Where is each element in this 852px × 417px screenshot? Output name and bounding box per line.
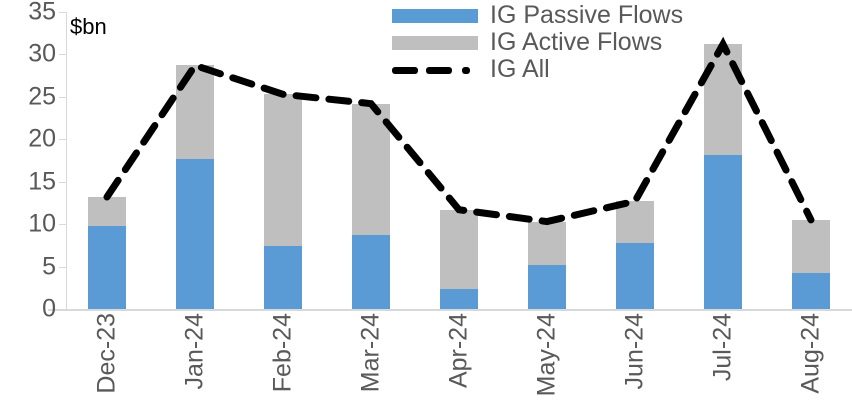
bar-segment-ig-passive-flows[interactable] — [264, 246, 302, 309]
bar-segment-ig-passive-flows[interactable] — [176, 159, 214, 309]
bar-segment-ig-active-flows[interactable] — [440, 210, 478, 289]
legend-item-label: IG Active Flows — [490, 30, 662, 55]
x-axis-tick-label-text: Jul-24 — [711, 313, 736, 381]
legend-dash-segment — [426, 67, 452, 74]
x-axis-labels: Dec-23Jan-24Feb-24Mar-24Apr-24May-24Jun-… — [66, 313, 852, 417]
legend-item-ig-active-flows[interactable]: IG Active Flows — [392, 29, 682, 56]
bar-group[interactable] — [264, 12, 302, 309]
legend-swatch — [392, 9, 478, 23]
x-axis-tick-label-text: Jan-24 — [183, 313, 208, 389]
legend-dash-segment — [462, 67, 470, 74]
x-axis-tick-label-text: Mar-24 — [359, 313, 384, 392]
bar-segment-ig-passive-flows[interactable] — [352, 235, 390, 309]
bar-group[interactable] — [176, 12, 214, 309]
y-axis-tick-mark — [59, 139, 66, 140]
legend-item-label: IG Passive Flows — [490, 3, 683, 28]
chart-legend: IG Passive FlowsIG Active FlowsIG All — [392, 2, 682, 83]
legend-dashed-line-swatch — [392, 63, 478, 77]
legend-swatch — [392, 36, 478, 50]
bar-segment-ig-active-flows[interactable] — [528, 222, 566, 265]
chart-container: $bn 05101520253035 Dec-23Jan-24Feb-24Mar… — [0, 0, 852, 417]
x-axis-tick-label-text: May-24 — [535, 313, 560, 396]
bar-segment-ig-passive-flows[interactable] — [704, 155, 742, 309]
y-axis-tick-mark — [59, 97, 66, 98]
bar-segment-ig-active-flows[interactable] — [704, 44, 742, 154]
y-axis-tick-mark — [59, 224, 66, 225]
bar-segment-ig-active-flows[interactable] — [176, 65, 214, 158]
bar-segment-ig-passive-flows[interactable] — [528, 265, 566, 309]
bar-segment-ig-active-flows[interactable] — [616, 201, 654, 243]
bar-segment-ig-passive-flows[interactable] — [440, 289, 478, 309]
x-axis-tick-label-text: Feb-24 — [271, 313, 296, 392]
y-axis-tick-mark — [59, 309, 66, 310]
legend-item-ig-all[interactable]: IG All — [392, 56, 682, 83]
legend-dash-segment — [392, 67, 418, 74]
bar-segment-ig-active-flows[interactable] — [264, 94, 302, 246]
bar-segment-ig-active-flows[interactable] — [352, 104, 390, 236]
x-axis-line — [48, 309, 852, 311]
legend-item-label: IG All — [490, 57, 550, 82]
bar-segment-ig-passive-flows[interactable] — [88, 226, 126, 309]
y-axis-tick-mark — [59, 54, 66, 55]
legend-item-ig-passive-flows[interactable]: IG Passive Flows — [392, 2, 682, 29]
bar-segment-ig-active-flows[interactable] — [792, 220, 830, 273]
y-axis-tick-mark — [59, 12, 66, 13]
bar-segment-ig-active-flows[interactable] — [88, 197, 126, 226]
x-axis-tick-label-text: Dec-23 — [95, 313, 120, 394]
x-axis-tick-label-text: Jun-24 — [623, 313, 648, 389]
x-axis-tick-label-text: Apr-24 — [447, 313, 472, 388]
y-axis-tick-mark — [59, 267, 66, 268]
x-axis-tick-label-text: Aug-24 — [799, 313, 824, 394]
bar-group[interactable] — [792, 12, 830, 309]
y-axis-tick-mark — [59, 182, 66, 183]
bar-group[interactable] — [704, 12, 742, 309]
bar-segment-ig-passive-flows[interactable] — [792, 273, 830, 309]
bar-segment-ig-passive-flows[interactable] — [616, 243, 654, 309]
bar-group[interactable] — [88, 12, 126, 309]
bar-group[interactable] — [352, 12, 390, 309]
